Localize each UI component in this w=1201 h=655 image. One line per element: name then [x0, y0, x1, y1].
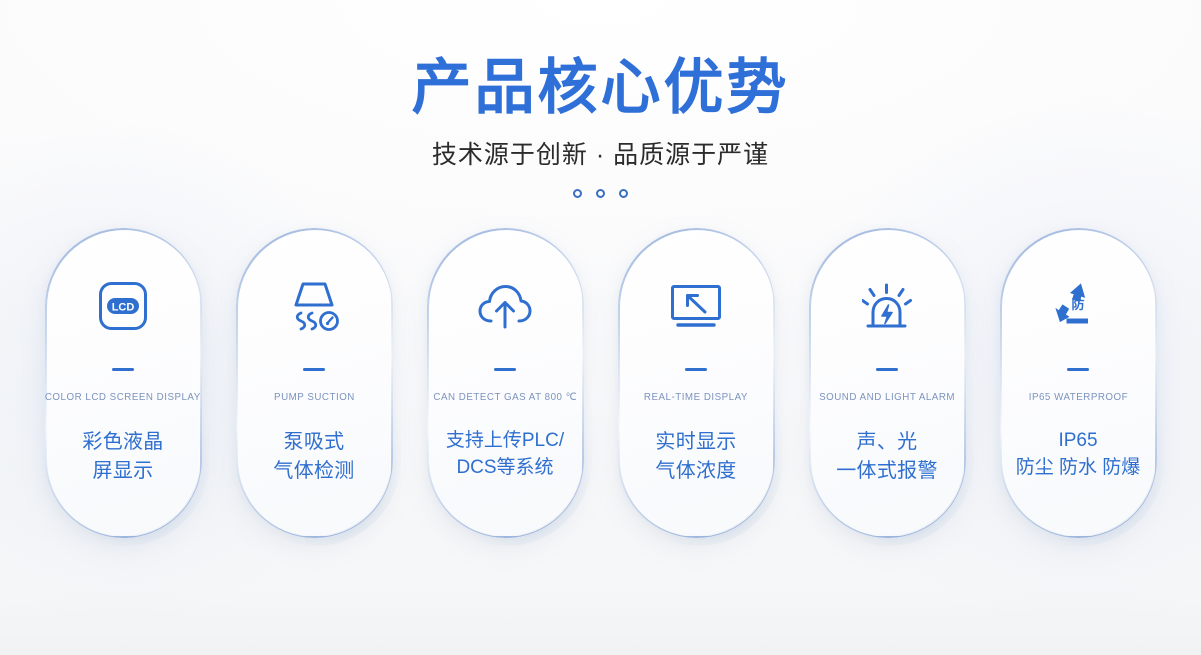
card-divider	[1067, 368, 1089, 371]
card-english-caption: COLOR LCD SCREEN DISPLAY	[45, 391, 201, 403]
lcd-screen-icon: LCD	[98, 277, 148, 335]
card-chinese-line-2: 气体浓度	[655, 457, 736, 485]
card-english-caption: IP65 WATERPROOF	[1028, 391, 1127, 403]
card-chinese-line-1: 支持上传PLC/	[446, 428, 564, 455]
card-english-caption: REAL-TIME DISPLAY	[644, 391, 748, 403]
card-chinese-line-2: 屏显示	[82, 457, 163, 485]
card-chinese-label: 彩色液晶屏显示	[82, 428, 163, 485]
monitor-realtime-icon	[670, 277, 722, 335]
page-header: 产品核心优势 技术源于创新 · 品质源于严谨	[0, 0, 1201, 198]
page-subtitle: 技术源于创新 · 品质源于严谨	[0, 135, 1201, 171]
decorative-dot	[573, 189, 582, 198]
card-chinese-line-1: 实时显示	[655, 428, 736, 456]
card-english-caption: SOUND AND LIGHT ALARM	[819, 391, 955, 403]
card-english-caption: CAN DETECT GAS AT 800 ℃	[433, 391, 577, 403]
alarm-beacon-icon	[862, 277, 912, 335]
feature-card[interactable]: REAL-TIME DISPLAY实时显示气体浓度	[618, 228, 774, 537]
card-divider	[494, 368, 516, 371]
feature-card[interactable]: CAN DETECT GAS AT 800 ℃支持上传PLC/DCS等系统	[427, 228, 583, 537]
card-chinese-line-2: 防尘 防水 防爆	[1016, 455, 1141, 482]
card-chinese-label: IP65防尘 防水 防爆	[1016, 428, 1141, 482]
card-chinese-line-1: 彩色液晶	[82, 428, 163, 456]
feature-card[interactable]: PUMP SUCTION泵吸式气体检测	[236, 228, 392, 537]
pump-suction-icon	[288, 277, 340, 335]
cloud-upload-icon	[478, 277, 532, 335]
card-divider	[876, 368, 898, 371]
card-chinese-label: 声、光一体式报警	[836, 428, 938, 485]
feature-card-list: LCDCOLOR LCD SCREEN DISPLAY彩色液晶屏显示PUMP S…	[0, 228, 1201, 537]
card-divider	[112, 368, 134, 371]
card-chinese-line-1: IP65	[1016, 428, 1141, 455]
card-chinese-label: 支持上传PLC/DCS等系统	[446, 428, 564, 482]
card-english-caption: PUMP SUCTION	[274, 391, 355, 403]
card-divider	[685, 368, 707, 371]
card-chinese-line-1: 泵吸式	[273, 428, 354, 456]
decorative-dot	[596, 189, 605, 198]
svg-text:LCD: LCD	[112, 302, 135, 314]
background-bottom-fade	[0, 585, 1201, 655]
decorative-dots	[0, 189, 1201, 198]
feature-card[interactable]: SOUND AND LIGHT ALARM声、光一体式报警	[809, 228, 965, 537]
decorative-dot	[619, 189, 628, 198]
svg-text:防: 防	[1071, 297, 1084, 312]
card-chinese-line-1: 声、光	[836, 428, 938, 456]
feature-card[interactable]: LCDCOLOR LCD SCREEN DISPLAY彩色液晶屏显示	[45, 228, 201, 537]
card-chinese-line-2: DCS等系统	[446, 455, 564, 482]
card-chinese-label: 实时显示气体浓度	[655, 428, 736, 485]
feature-card[interactable]: 防IP65 WATERPROOFIP65防尘 防水 防爆	[1000, 228, 1156, 537]
card-divider	[303, 368, 325, 371]
recycle-protect-icon: 防	[1053, 277, 1103, 335]
card-chinese-line-2: 气体检测	[273, 457, 354, 485]
card-chinese-line-2: 一体式报警	[836, 457, 938, 485]
page-title: 产品核心优势	[0, 54, 1201, 121]
card-chinese-label: 泵吸式气体检测	[273, 428, 354, 485]
